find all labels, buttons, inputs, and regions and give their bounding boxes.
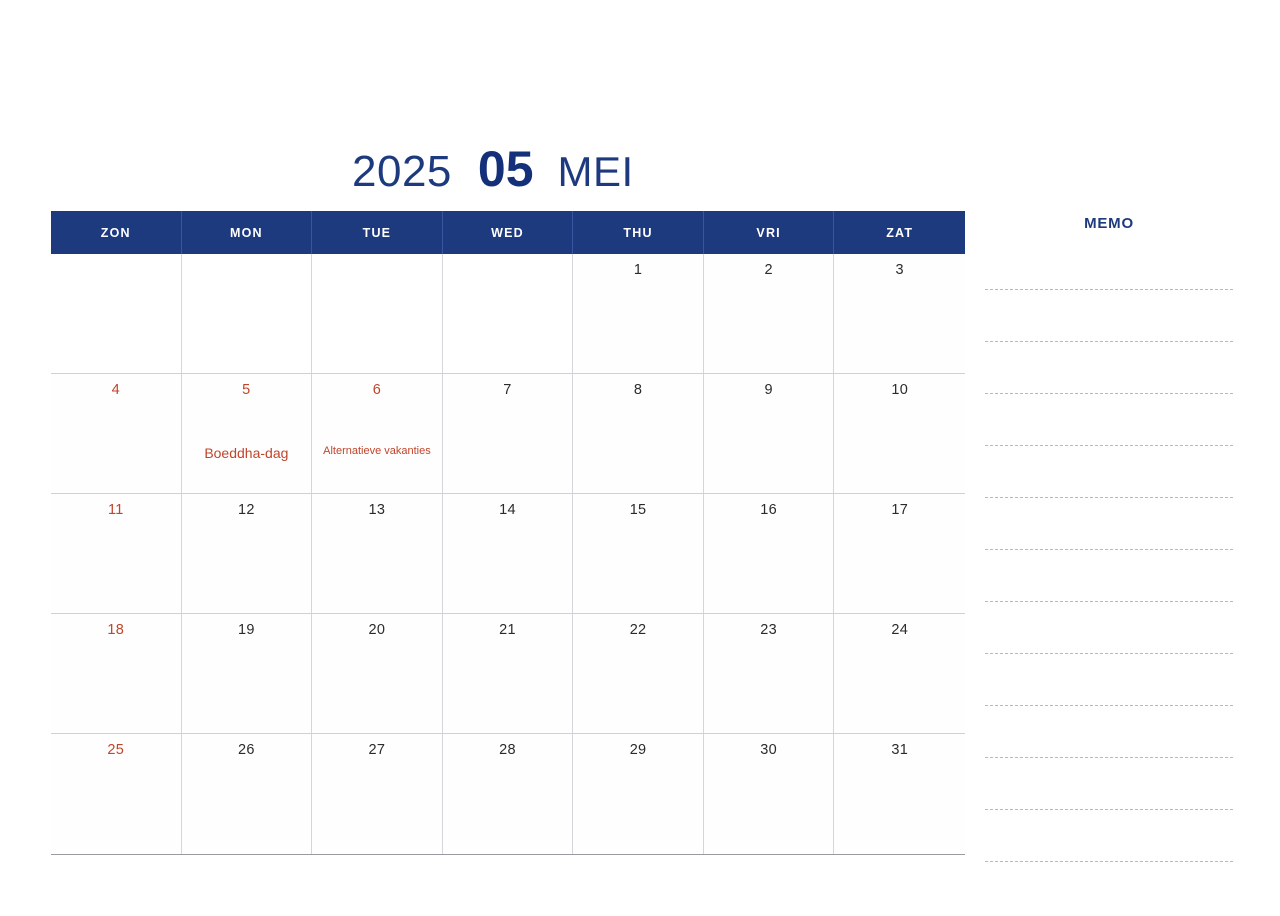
day-number: 9 xyxy=(704,383,834,398)
day-cell[interactable]: 28 xyxy=(443,734,574,854)
day-cell-empty xyxy=(51,254,182,373)
memo-write-line[interactable] xyxy=(985,705,1233,706)
day-events: Alternatieve vakanties xyxy=(314,445,440,459)
day-number: 1 xyxy=(573,263,703,278)
memo-write-line[interactable] xyxy=(985,549,1233,550)
weekday-header-wed: WED xyxy=(443,211,574,254)
memo-write-line[interactable] xyxy=(985,809,1233,810)
event-label[interactable]: Boeddha-dag xyxy=(184,445,310,463)
day-cell[interactable]: 2 xyxy=(704,254,835,373)
day-number: 22 xyxy=(573,623,703,638)
day-number: 2 xyxy=(704,263,834,278)
day-number: 6 xyxy=(312,383,442,398)
event-label[interactable]: Alternatieve vakanties xyxy=(314,445,440,459)
day-cell-empty xyxy=(182,254,313,373)
calendar-week-row: 11121314151617 xyxy=(51,494,965,614)
day-number: 29 xyxy=(573,743,703,758)
day-cell[interactable]: 18 xyxy=(51,614,182,733)
calendar-weeks: 12345Boeddha-dag6Alternatieve vakanties7… xyxy=(51,254,965,855)
day-cell[interactable]: 19 xyxy=(182,614,313,733)
day-cell-empty xyxy=(443,254,574,373)
day-cell[interactable]: 17 xyxy=(834,494,965,613)
calendar-page: 2025 05 MEI ZONMONTUEWEDTHUVRIZAT 12345B… xyxy=(0,0,1280,916)
day-number: 12 xyxy=(182,503,312,518)
weekday-header-zat: ZAT xyxy=(834,211,965,254)
day-cell[interactable]: 1 xyxy=(573,254,704,373)
day-number: 24 xyxy=(834,623,965,638)
day-cell[interactable]: 12 xyxy=(182,494,313,613)
memo-write-line[interactable] xyxy=(985,445,1233,446)
day-cell[interactable]: 3 xyxy=(834,254,965,373)
day-number: 16 xyxy=(704,503,834,518)
memo-write-line[interactable] xyxy=(985,653,1233,654)
day-number: 26 xyxy=(182,743,312,758)
day-cell[interactable]: 16 xyxy=(704,494,835,613)
day-number: 27 xyxy=(312,743,442,758)
day-number: 23 xyxy=(704,623,834,638)
memo-lines[interactable] xyxy=(985,289,1233,875)
calendar-week-row: 123 xyxy=(51,254,965,374)
day-number: 7 xyxy=(443,383,573,398)
calendar-week-row: 45Boeddha-dag6Alternatieve vakanties7891… xyxy=(51,374,965,494)
memo-panel: MEMO xyxy=(985,211,1233,875)
calendar-week-row: 18192021222324 xyxy=(51,614,965,734)
day-number: 8 xyxy=(573,383,703,398)
day-cell[interactable]: 30 xyxy=(704,734,835,854)
day-cell[interactable]: 20 xyxy=(312,614,443,733)
memo-write-line[interactable] xyxy=(985,757,1233,758)
day-number: 18 xyxy=(51,623,181,638)
day-number: 30 xyxy=(704,743,834,758)
day-number: 25 xyxy=(51,743,181,758)
page-title: 2025 05 MEI xyxy=(352,140,634,202)
weekday-header-tue: TUE xyxy=(312,211,443,254)
calendar-grid: ZONMONTUEWEDTHUVRIZAT 12345Boeddha-dag6A… xyxy=(51,211,965,855)
day-number: 17 xyxy=(834,503,965,518)
day-cell[interactable]: 11 xyxy=(51,494,182,613)
day-number: 3 xyxy=(834,263,965,278)
title-year: 2025 xyxy=(352,147,452,197)
memo-title: MEMO xyxy=(985,211,1233,231)
day-cell[interactable]: 10 xyxy=(834,374,965,493)
day-number: 11 xyxy=(51,503,181,518)
day-cell[interactable]: 27 xyxy=(312,734,443,854)
memo-write-line[interactable] xyxy=(985,289,1233,290)
day-cell[interactable]: 4 xyxy=(51,374,182,493)
day-number: 20 xyxy=(312,623,442,638)
day-cell[interactable]: 7 xyxy=(443,374,574,493)
day-cell[interactable]: 31 xyxy=(834,734,965,854)
weekday-header-vri: VRI xyxy=(704,211,835,254)
title-month-name: MEI xyxy=(558,148,634,196)
memo-write-line[interactable] xyxy=(985,393,1233,394)
day-cell-empty xyxy=(312,254,443,373)
day-cell[interactable]: 29 xyxy=(573,734,704,854)
memo-write-line[interactable] xyxy=(985,861,1233,862)
day-number: 10 xyxy=(834,383,965,398)
memo-write-line[interactable] xyxy=(985,497,1233,498)
day-cell[interactable]: 25 xyxy=(51,734,182,854)
day-cell[interactable]: 15 xyxy=(573,494,704,613)
day-cell[interactable]: 23 xyxy=(704,614,835,733)
day-number: 5 xyxy=(182,383,312,398)
day-events: Boeddha-dag xyxy=(184,445,310,463)
day-cell[interactable]: 22 xyxy=(573,614,704,733)
title-month-number: 05 xyxy=(478,140,534,198)
day-cell[interactable]: 26 xyxy=(182,734,313,854)
day-number: 4 xyxy=(51,383,181,398)
weekday-header-zon: ZON xyxy=(51,211,182,254)
weekday-header-thu: THU xyxy=(573,211,704,254)
day-number: 15 xyxy=(573,503,703,518)
day-number: 21 xyxy=(443,623,573,638)
day-cell[interactable]: 13 xyxy=(312,494,443,613)
weekday-header-mon: MON xyxy=(182,211,313,254)
weekday-header-row: ZONMONTUEWEDTHUVRIZAT xyxy=(51,211,965,254)
day-cell[interactable]: 9 xyxy=(704,374,835,493)
day-cell[interactable]: 5Boeddha-dag xyxy=(182,374,313,493)
day-cell[interactable]: 14 xyxy=(443,494,574,613)
day-number: 14 xyxy=(443,503,573,518)
day-cell[interactable]: 24 xyxy=(834,614,965,733)
day-number: 13 xyxy=(312,503,442,518)
day-cell[interactable]: 8 xyxy=(573,374,704,493)
memo-write-line[interactable] xyxy=(985,601,1233,602)
day-number: 28 xyxy=(443,743,573,758)
calendar-week-row: 25262728293031 xyxy=(51,734,965,854)
day-number: 19 xyxy=(182,623,312,638)
day-cell[interactable]: 6Alternatieve vakanties xyxy=(312,374,443,493)
day-number: 31 xyxy=(834,743,965,758)
memo-write-line[interactable] xyxy=(985,341,1233,342)
day-cell[interactable]: 21 xyxy=(443,614,574,733)
